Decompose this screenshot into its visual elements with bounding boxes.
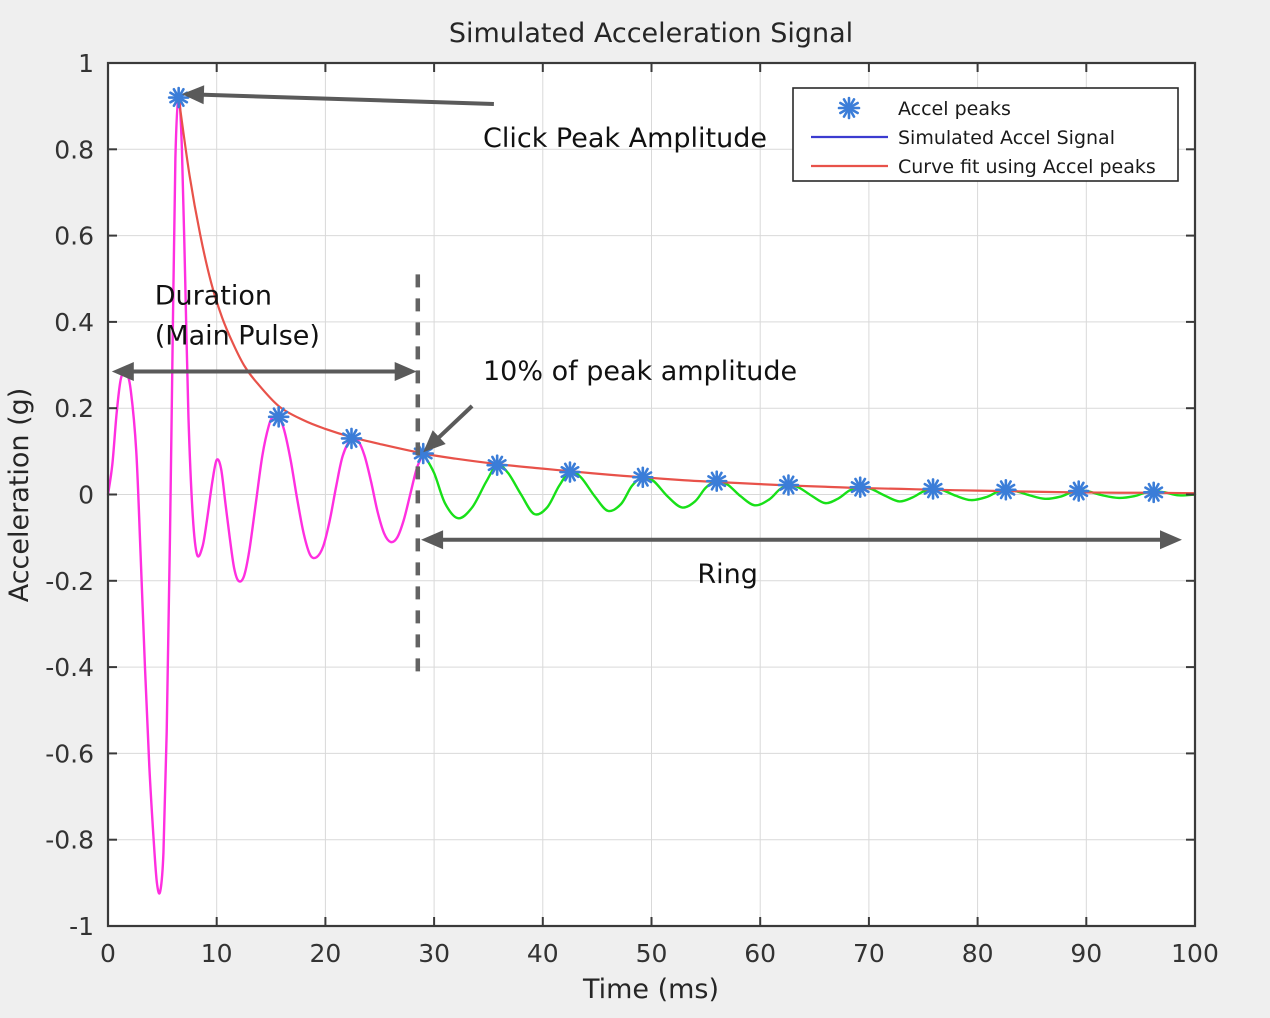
- x-axis-label: Time (ms): [582, 974, 719, 1005]
- y-tick-label: 0: [78, 481, 94, 510]
- annotation-label-duration-main-pulse: Duration: [155, 281, 272, 312]
- x-tick-label: 100: [1171, 939, 1219, 968]
- x-tick-label: 70: [853, 939, 885, 968]
- y-tick-label: 1: [78, 49, 94, 78]
- y-tick-label: 0.8: [54, 135, 94, 164]
- x-tick-label: 0: [100, 939, 116, 968]
- chart-page: Click Peak AmplitudeDuration(Main Pulse)…: [0, 0, 1270, 1018]
- x-tick-label: 30: [418, 939, 450, 968]
- y-axis-label: Acceleration (g): [4, 388, 35, 603]
- x-tick-label: 90: [1070, 939, 1102, 968]
- x-tick-label: 80: [962, 939, 994, 968]
- legend-label: Accel peaks: [898, 98, 1011, 120]
- chart-title: Simulated Acceleration Signal: [449, 18, 853, 49]
- acceleration-chart: Click Peak AmplitudeDuration(Main Pulse)…: [0, 0, 1270, 1018]
- y-tick-label: -0.8: [45, 826, 94, 855]
- y-tick-label: 0.2: [54, 394, 94, 423]
- x-tick-label: 10: [201, 939, 233, 968]
- y-tick-label: 0.6: [54, 222, 94, 251]
- x-tick-label: 50: [636, 939, 668, 968]
- x-tick-label: 60: [744, 939, 776, 968]
- annotation-label-click-peak-amplitude: Click Peak Amplitude: [483, 123, 767, 154]
- legend[interactable]: Accel peaksSimulated Accel SignalCurve f…: [793, 88, 1178, 181]
- legend-label: Simulated Accel Signal: [898, 127, 1115, 149]
- annotation-label-ring: Ring: [697, 559, 758, 590]
- annotation-label-duration-main-pulse-line2: (Main Pulse): [155, 321, 320, 352]
- legend-label: Curve fit using Accel peaks: [898, 156, 1156, 178]
- y-tick-label: -0.2: [45, 567, 94, 596]
- x-tick-label: 20: [309, 939, 341, 968]
- y-tick-label: 0.4: [54, 308, 94, 337]
- x-tick-label: 40: [527, 939, 559, 968]
- y-tick-label: -1: [69, 912, 94, 941]
- y-tick-label: -0.4: [45, 653, 94, 682]
- annotation-label-ten-percent-of-peak: 10% of peak amplitude: [483, 356, 797, 387]
- y-tick-label: -0.6: [45, 739, 94, 768]
